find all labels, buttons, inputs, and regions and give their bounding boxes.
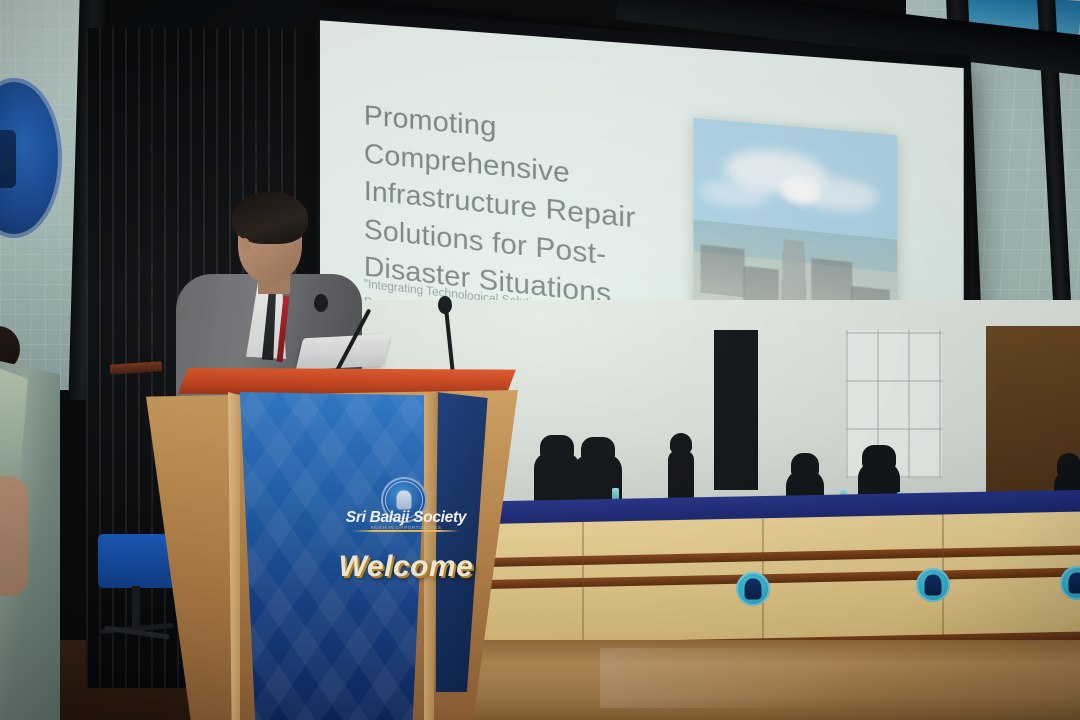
chair-headrest bbox=[1057, 453, 1080, 477]
chair-headrest bbox=[581, 437, 615, 461]
stage-emblem-inner bbox=[1069, 573, 1080, 594]
chair-seat bbox=[98, 534, 176, 588]
speaker-hair bbox=[232, 192, 308, 244]
presenter-laptop[interactable] bbox=[296, 334, 391, 370]
auditorium-scene: UNIVERSITY E BIMM BIIMHRD Promoting Comp… bbox=[0, 0, 1080, 720]
chair-post bbox=[132, 586, 140, 630]
stage-doorway bbox=[714, 330, 758, 490]
podium-divider-rule bbox=[352, 530, 460, 532]
university-logo-core bbox=[0, 130, 16, 188]
attendee-arm bbox=[0, 476, 28, 596]
microphone-head-left bbox=[314, 294, 328, 312]
speaker-ear bbox=[240, 238, 250, 254]
chair-headrest bbox=[540, 435, 574, 459]
floor-reflection bbox=[600, 648, 1020, 708]
stage-emblem bbox=[736, 572, 770, 606]
chair-headrest bbox=[862, 445, 896, 469]
microphone-head-right bbox=[438, 296, 452, 314]
attendee-woman-saree bbox=[0, 326, 64, 720]
podium-logo-core bbox=[397, 491, 412, 510]
podium-welcome-text: Welcome bbox=[324, 550, 488, 584]
blue-office-chair bbox=[98, 534, 176, 662]
chair-headrest bbox=[670, 433, 692, 453]
stage-emblem-inner bbox=[925, 575, 942, 596]
stage-emblem bbox=[916, 568, 950, 602]
ceiling-dark-left bbox=[96, 0, 336, 30]
chair-headrest bbox=[791, 453, 819, 477]
stage-emblem-inner bbox=[745, 579, 762, 600]
photo-building bbox=[700, 244, 745, 298]
stage-panel-seam bbox=[582, 522, 584, 652]
